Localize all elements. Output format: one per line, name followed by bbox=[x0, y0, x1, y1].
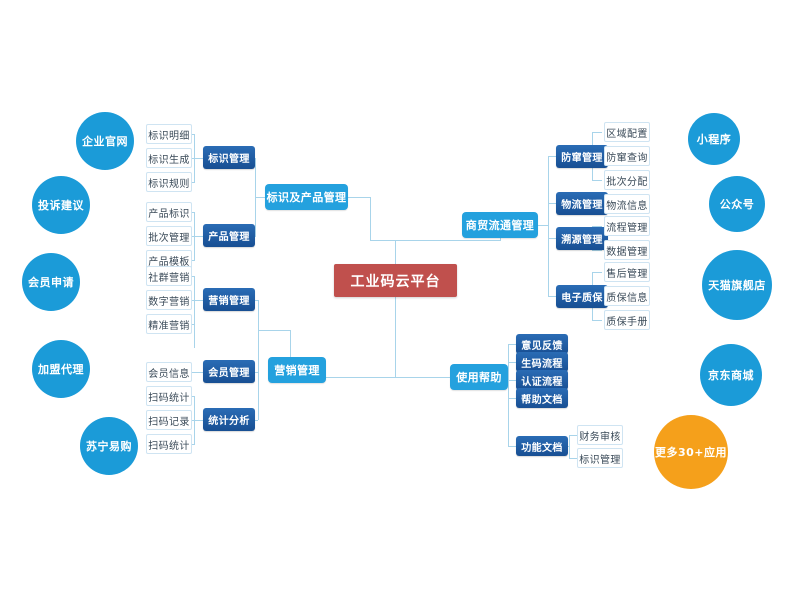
leaf-node[interactable]: 社群营销 bbox=[146, 266, 192, 286]
leaf-node[interactable]: 产品标识 bbox=[146, 202, 192, 222]
connector bbox=[508, 446, 516, 447]
connector bbox=[194, 158, 203, 159]
mindmap-canvas: 工业码云平台 标识及产品管理 标识管理 标识明细 标识生成 标识规则 产品管理 … bbox=[0, 0, 800, 600]
connector bbox=[592, 180, 602, 181]
branch-trade-circulation[interactable]: 商贸流通管理 bbox=[462, 212, 538, 238]
connector bbox=[194, 420, 203, 421]
app-circle-member-apply[interactable]: 会员申请 bbox=[22, 253, 80, 311]
app-circle-tmall-store[interactable]: 天猫旗舰店 bbox=[702, 250, 772, 320]
leaf-node[interactable]: 会员信息 bbox=[146, 362, 192, 382]
app-circle-suning[interactable]: 苏宁易购 bbox=[80, 417, 138, 475]
group-marketing-management[interactable]: 营销管理 bbox=[203, 288, 255, 311]
leaf-node[interactable]: 物流信息 bbox=[604, 194, 650, 214]
connector bbox=[569, 435, 577, 436]
leaf-node[interactable]: 防窜查询 bbox=[604, 146, 650, 166]
group-feedback[interactable]: 意见反馈 bbox=[516, 334, 568, 354]
leaf-node[interactable]: 批次分配 bbox=[604, 170, 650, 190]
leaf-node[interactable]: 售后管理 bbox=[604, 262, 650, 282]
connector bbox=[548, 203, 556, 204]
leaf-node[interactable]: 标识管理 bbox=[577, 448, 623, 468]
connector bbox=[548, 296, 556, 297]
group-statistics-analysis[interactable]: 统计分析 bbox=[203, 408, 255, 431]
group-identity-management[interactable]: 标识管理 bbox=[203, 146, 255, 169]
connector bbox=[508, 380, 516, 381]
leaf-node[interactable]: 区域配置 bbox=[604, 122, 650, 142]
connector bbox=[508, 362, 516, 363]
connector bbox=[395, 297, 396, 377]
connector bbox=[508, 344, 516, 345]
leaf-node[interactable]: 财务审核 bbox=[577, 425, 623, 445]
leaf-node[interactable]: 批次管理 bbox=[146, 226, 192, 246]
connector bbox=[255, 158, 256, 236]
connector bbox=[592, 250, 602, 251]
group-anti-diversion[interactable]: 防窜管理 bbox=[556, 145, 608, 168]
leaf-node[interactable]: 数字营销 bbox=[146, 290, 192, 310]
connector bbox=[508, 398, 516, 399]
connector bbox=[548, 156, 549, 296]
leaf-node[interactable]: 标识生成 bbox=[146, 148, 192, 168]
connector bbox=[194, 236, 203, 237]
connector bbox=[538, 225, 548, 226]
app-circle-more-apps[interactable]: 更多30+应用 bbox=[654, 415, 728, 489]
connector bbox=[548, 238, 556, 239]
group-logistics-management[interactable]: 物流管理 bbox=[556, 192, 608, 215]
group-traceability-management[interactable]: 溯源管理 bbox=[556, 227, 608, 250]
branch-help[interactable]: 使用帮助 bbox=[450, 364, 508, 390]
group-product-management[interactable]: 产品管理 bbox=[203, 224, 255, 247]
connector bbox=[395, 240, 396, 264]
app-circle-jd-mall[interactable]: 京东商城 bbox=[700, 344, 762, 406]
connector bbox=[569, 458, 577, 459]
leaf-node[interactable]: 标识规则 bbox=[146, 172, 192, 192]
branch-marketing[interactable]: 营销管理 bbox=[268, 357, 326, 383]
leaf-node[interactable]: 流程管理 bbox=[604, 216, 650, 236]
app-circle-miniprogram[interactable]: 小程序 bbox=[688, 113, 740, 165]
group-code-generation-flow[interactable]: 生码流程 bbox=[516, 352, 568, 372]
leaf-node[interactable]: 扫码统计 bbox=[146, 386, 192, 406]
group-member-management[interactable]: 会员管理 bbox=[203, 360, 255, 383]
app-circle-corporate-site[interactable]: 企业官网 bbox=[76, 112, 134, 170]
connector bbox=[268, 330, 291, 331]
leaf-node[interactable]: 标识明细 bbox=[146, 124, 192, 144]
app-circle-franchise-agent[interactable]: 加盟代理 bbox=[32, 340, 90, 398]
branch-identity-product[interactable]: 标识及产品管理 bbox=[265, 184, 348, 210]
leaf-node[interactable]: 质保信息 bbox=[604, 286, 650, 306]
group-certification-flow[interactable]: 认证流程 bbox=[516, 370, 568, 390]
connector bbox=[255, 197, 265, 198]
connector bbox=[370, 197, 371, 241]
connector bbox=[592, 320, 602, 321]
leaf-node[interactable]: 扫码统计 bbox=[146, 434, 192, 454]
connector bbox=[592, 132, 602, 133]
group-help-document[interactable]: 帮助文档 bbox=[516, 388, 568, 408]
connector bbox=[258, 300, 259, 420]
app-circle-complaint[interactable]: 投诉建议 bbox=[32, 176, 90, 234]
connector bbox=[258, 330, 268, 331]
connector bbox=[592, 272, 602, 273]
connector bbox=[194, 300, 203, 301]
leaf-node[interactable]: 精准营销 bbox=[146, 314, 192, 334]
connector bbox=[508, 344, 509, 446]
root-node-title[interactable]: 工业码云平台 bbox=[334, 264, 457, 297]
connector bbox=[370, 240, 500, 241]
connector bbox=[569, 435, 570, 458]
connector bbox=[548, 156, 556, 157]
group-electronic-warranty[interactable]: 电子质保 bbox=[556, 285, 608, 308]
leaf-node[interactable]: 质保手册 bbox=[604, 310, 650, 330]
connector bbox=[348, 197, 371, 198]
leaf-node[interactable]: 扫码记录 bbox=[146, 410, 192, 430]
leaf-node[interactable]: 数据管理 bbox=[604, 240, 650, 260]
group-function-document[interactable]: 功能文档 bbox=[516, 436, 568, 456]
app-circle-official-account[interactable]: 公众号 bbox=[709, 176, 765, 232]
